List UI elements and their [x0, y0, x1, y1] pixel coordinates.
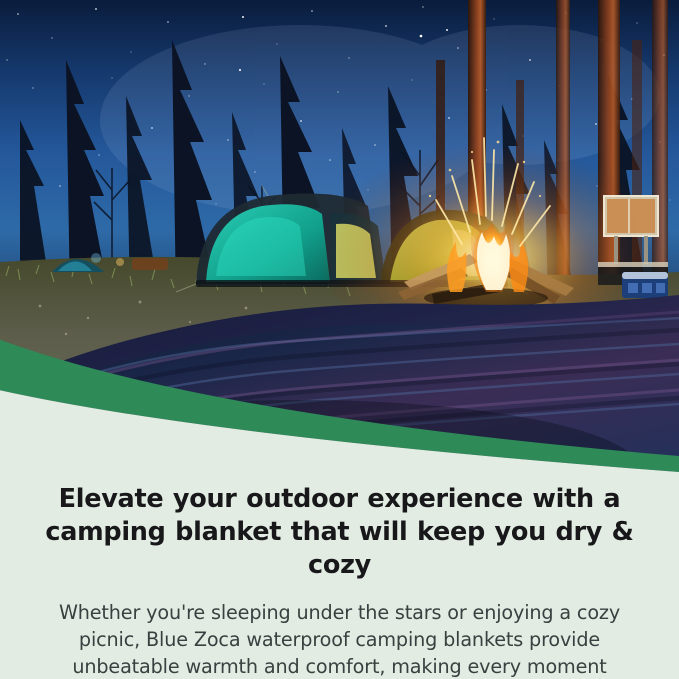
product-infographic-card: Elevate your outdoor experience with a c…: [0, 0, 679, 679]
headline: Elevate your outdoor experience with a c…: [10, 483, 669, 582]
cooler-box: [622, 272, 668, 298]
campsite-photo: [0, 0, 679, 475]
marketing-copy-block: Elevate your outdoor experience with a c…: [0, 472, 679, 679]
campsite-illustration: [0, 0, 679, 475]
subcopy: Whether you're sleeping under the stars …: [10, 599, 669, 679]
